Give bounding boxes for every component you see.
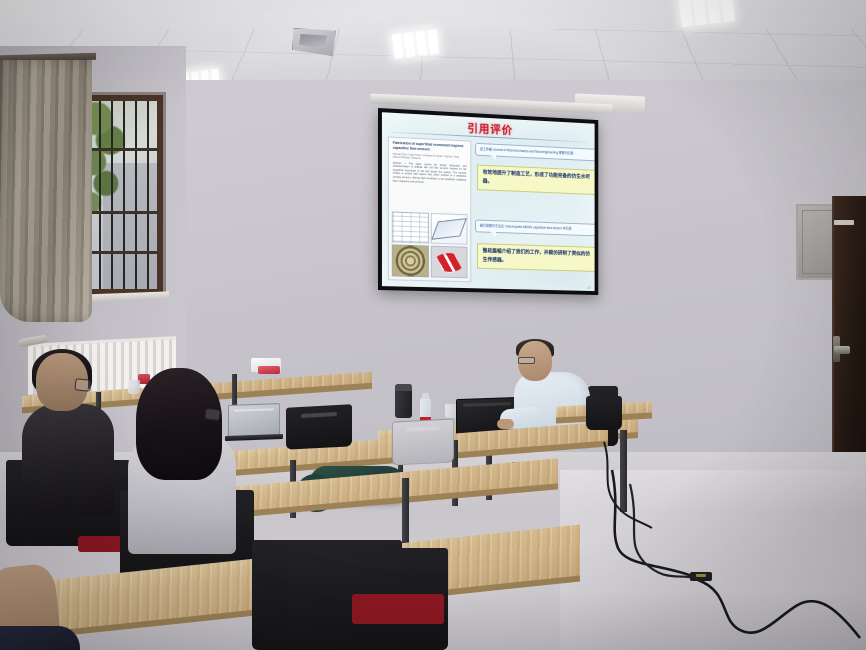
paper-heading: Fabrication of superficial neuromast ins… bbox=[393, 141, 467, 154]
student-b-glasses bbox=[204, 408, 220, 421]
cup-back-desk bbox=[128, 380, 140, 394]
classroom-photo: 引用评价 Fabrication of superficial neuromas… bbox=[0, 0, 866, 650]
presentation-slide: 引用评价 Fabrication of superficial neuromas… bbox=[382, 112, 595, 291]
student-a-torso bbox=[22, 404, 114, 516]
window-glass bbox=[89, 101, 157, 289]
window-curtain bbox=[0, 60, 92, 322]
door-handle[interactable] bbox=[834, 346, 850, 354]
door-top-plate bbox=[834, 220, 854, 225]
student-a-glasses bbox=[74, 378, 91, 392]
slide-highlight-2: 整段篇幅介绍了我们的工作，并模仿研制了类似的仿生传感器。 bbox=[477, 243, 595, 272]
slide-page-number: 27 bbox=[587, 286, 591, 290]
paper-figure-sketch bbox=[431, 213, 468, 245]
chair-middle-1[interactable] bbox=[286, 404, 352, 449]
slide-highlight-1: 有效地提升了制造工艺，形成了功能完备的仿生水听器。 bbox=[477, 165, 595, 195]
laptop-middle-row[interactable] bbox=[228, 403, 280, 437]
chair-seat-foreground bbox=[352, 594, 444, 624]
slide-callout-1: 该工作被 Journal of Micromechanics and Micro… bbox=[475, 143, 595, 162]
projection-screen[interactable]: 引用评价 Fabrication of superficial neuromas… bbox=[378, 108, 598, 295]
paper-figure-rotor bbox=[431, 246, 468, 278]
window bbox=[83, 95, 163, 295]
student-b-hair bbox=[136, 368, 222, 480]
paper-abstract: Abstract — This paper reports the design… bbox=[393, 161, 467, 186]
presenter-glasses bbox=[518, 357, 535, 364]
presenter-hand bbox=[497, 419, 514, 429]
paper-figure-table bbox=[392, 211, 429, 244]
chair-right-far[interactable] bbox=[586, 396, 622, 430]
paper-figure-chip-micrograph bbox=[392, 245, 429, 277]
slide-paper-panel: Fabrication of superficial neuromast ins… bbox=[388, 136, 471, 282]
red-box-object bbox=[258, 366, 280, 374]
foreground-person-shirt bbox=[0, 626, 80, 650]
slide-callout-2: 被引用期刊于论文 Cilia-inspired MEMS capacitive … bbox=[475, 219, 595, 236]
paper-figure-grid bbox=[392, 211, 468, 278]
window-security-bars bbox=[89, 101, 157, 289]
chair-middle-2[interactable] bbox=[392, 418, 454, 465]
black-thermos bbox=[395, 384, 412, 418]
presenter-cable bbox=[592, 440, 682, 530]
